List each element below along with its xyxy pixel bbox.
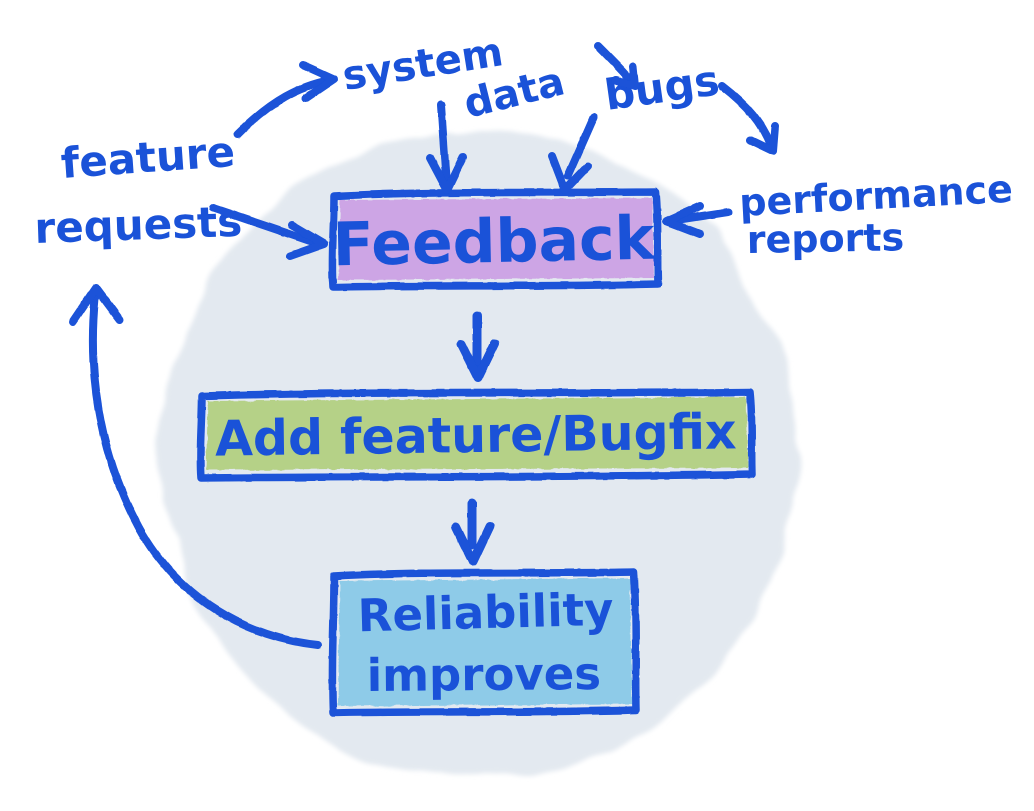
label-performance-reports: performance reports [738, 167, 1014, 262]
arrow-curve-to-system [238, 65, 334, 134]
node-feedback[interactable]: Feedback [332, 192, 658, 287]
feedback-loop-diagram: Feedback Add feature/Bugfix Reliability … [0, 0, 1034, 811]
diagram-canvas: Feedback Add feature/Bugfix Reliability … [0, 0, 1034, 811]
arrow-curve-bugs-to-performance [722, 86, 775, 151]
node-reliability-improves[interactable]: Reliability improves [332, 572, 636, 713]
label-feature-requests: feature requests [34, 127, 243, 253]
performance-reports-line2: reports [746, 215, 904, 262]
reliability-label-line1: Reliability [357, 583, 614, 643]
node-add-feature-bugfix[interactable]: Add feature/Bugfix [200, 392, 752, 478]
reliability-label-line2: improves [366, 647, 601, 702]
addfeature-label: Add feature/Bugfix [215, 403, 737, 467]
feedback-label: Feedback [332, 204, 657, 281]
label-system-data: system data [339, 29, 569, 128]
feature-requests-line1: feature [59, 127, 236, 188]
